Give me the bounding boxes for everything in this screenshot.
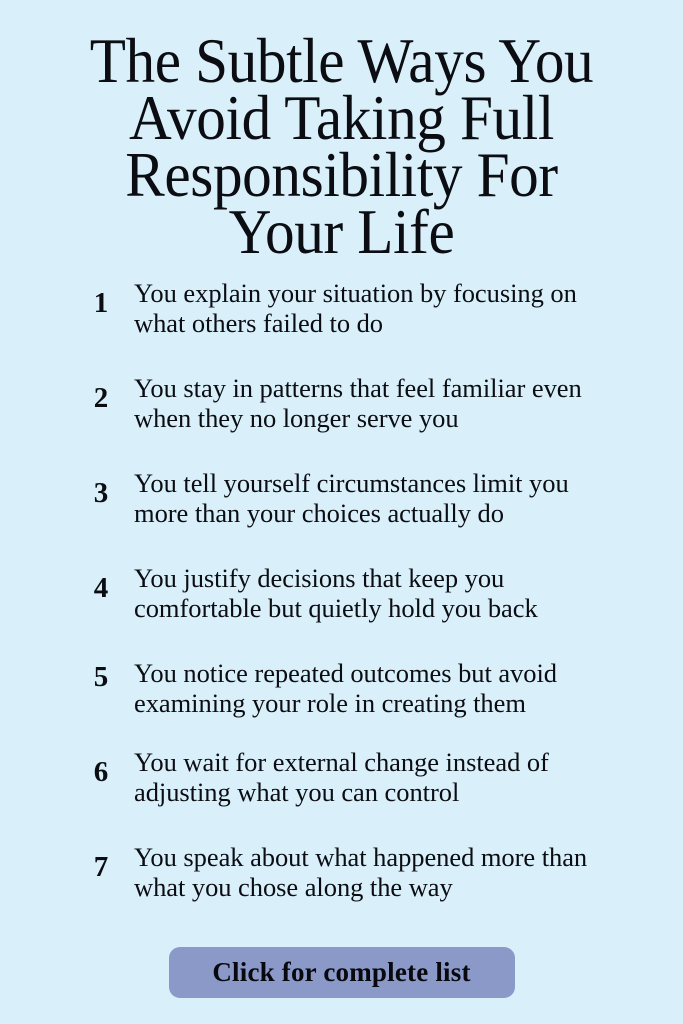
- list-item: 2 You stay in patterns that feel familia…: [0, 372, 683, 433]
- page-title: The Subtle Ways You Avoid Taking Full Re…: [0, 33, 683, 261]
- list-item-number: 2: [78, 372, 124, 413]
- list-item-number: 5: [78, 657, 124, 692]
- list-item-text: You speak about what happened more than …: [124, 841, 624, 902]
- list-item-text: You justify decisions that keep you comf…: [124, 562, 624, 623]
- cta-button-label: Click for complete list: [212, 959, 470, 986]
- list-item-number: 7: [78, 841, 124, 882]
- list-item: 1 You explain your situation by focusing…: [0, 277, 683, 338]
- list-item: 4 You justify decisions that keep you co…: [0, 562, 683, 623]
- page-title-text: The Subtle Ways You Avoid Taking Full Re…: [34, 33, 650, 261]
- list-item-text: You wait for external change instead of …: [124, 746, 624, 807]
- list-item: 5 You notice repeated outcomes but avoid…: [0, 657, 683, 718]
- list-item: 6 You wait for external change instead o…: [0, 746, 683, 807]
- list-item-text: You notice repeated outcomes but avoid e…: [124, 657, 624, 718]
- tips-list: 1 You explain your situation by focusing…: [0, 277, 683, 936]
- list-item-number: 3: [78, 467, 124, 508]
- list-item-text: You tell yourself circumstances limit yo…: [124, 467, 624, 528]
- list-item-number: 1: [78, 277, 124, 318]
- list-item-text: You stay in patterns that feel familiar …: [124, 372, 624, 433]
- list-item-number: 6: [78, 746, 124, 787]
- pin-graphic: The Subtle Ways You Avoid Taking Full Re…: [0, 0, 683, 1024]
- list-item: 3 You tell yourself circumstances limit …: [0, 467, 683, 528]
- click-for-complete-list-button[interactable]: Click for complete list: [169, 947, 515, 998]
- list-item-text: You explain your situation by focusing o…: [124, 277, 624, 338]
- list-item-number: 4: [78, 562, 124, 603]
- cta-container: Click for complete list: [0, 947, 683, 998]
- list-item: 7 You speak about what happened more tha…: [0, 841, 683, 902]
